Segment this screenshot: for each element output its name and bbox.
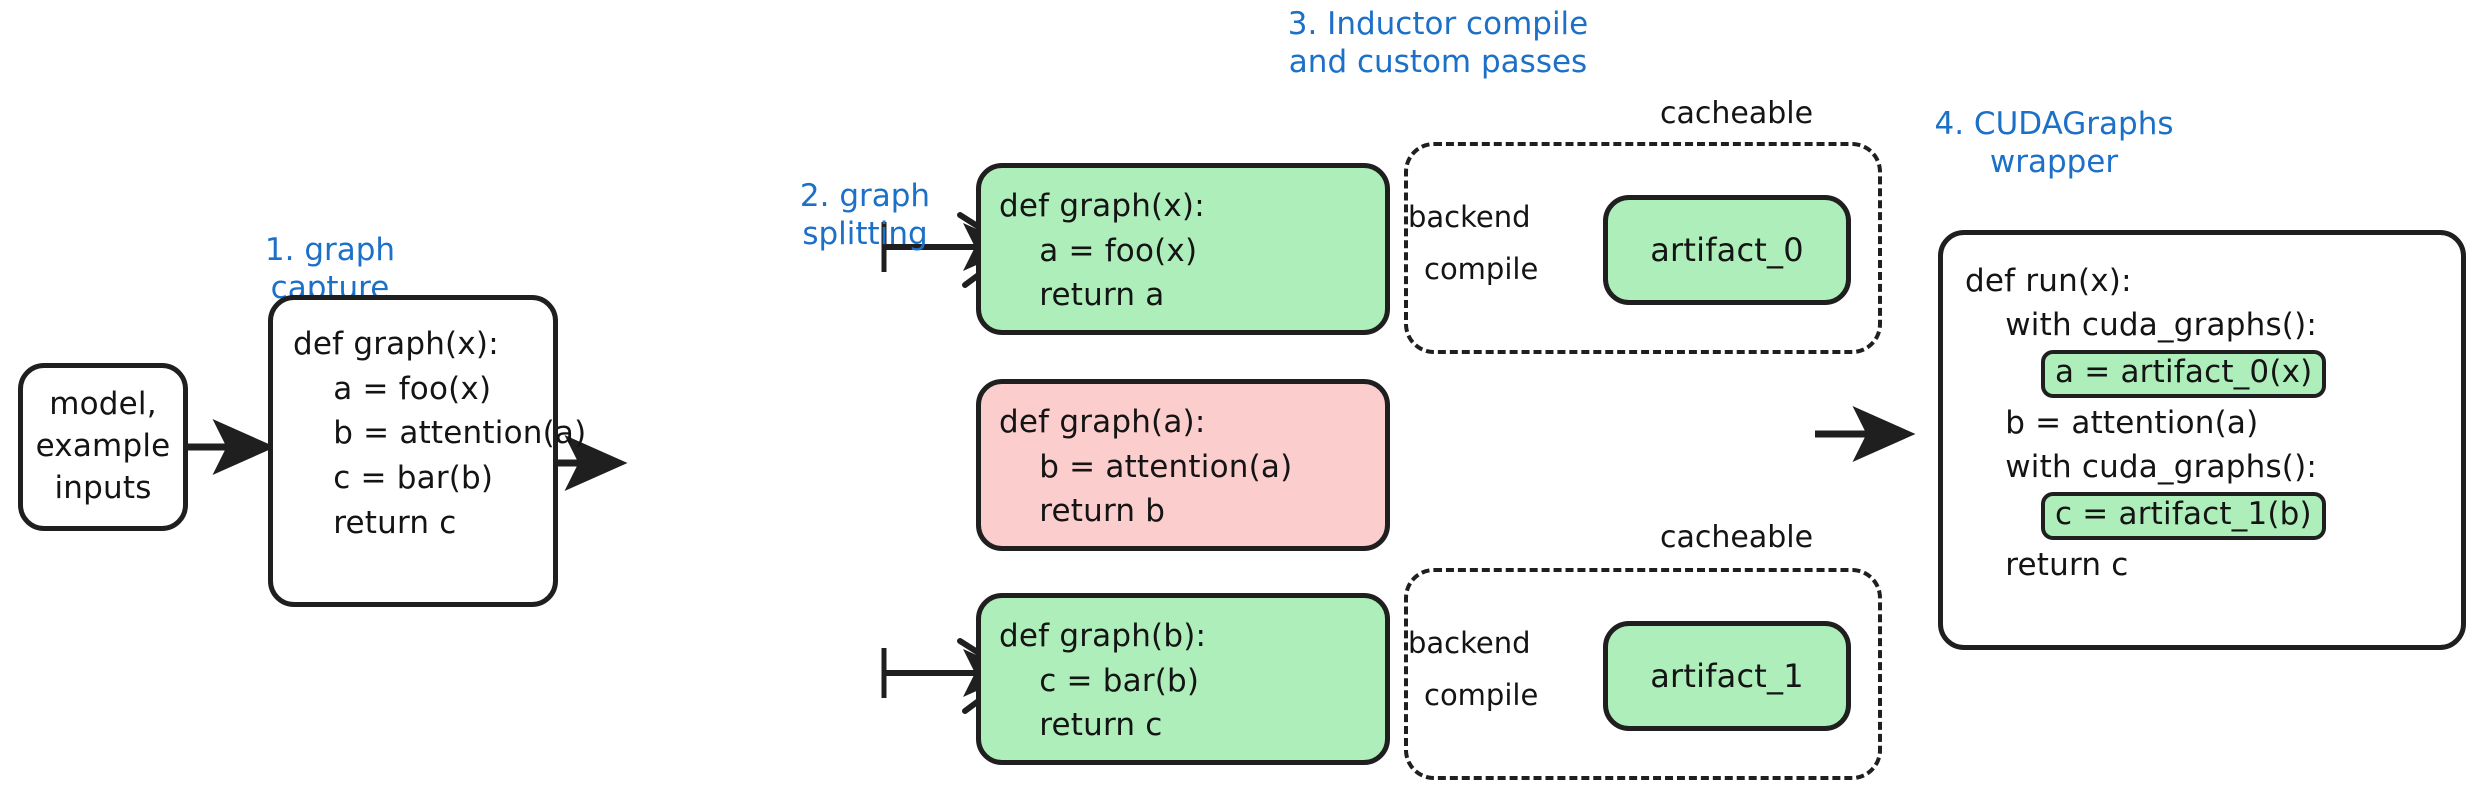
- node-split-graph-2[interactable]: def graph(b): c = bar(b) return c: [976, 593, 1390, 765]
- run-wrapper-line: def run(x):: [1965, 259, 2443, 303]
- run-wrapper-line: b = attention(a): [1965, 401, 2443, 445]
- run-wrapper-line: a = artifact_0(x): [1965, 347, 2443, 401]
- run-wrapper-highlighted-line: c = artifact_1(b): [2041, 492, 2326, 540]
- captured-graph-code: def graph(x): a = foo(x) b = attention(a…: [293, 322, 553, 545]
- node-split-graph-1[interactable]: def graph(a): b = attention(a) return b: [976, 379, 1390, 551]
- edge-label-compile-top: compile: [1424, 252, 1538, 286]
- node-run-wrapper[interactable]: def run(x): with cuda_graphs():a = artif…: [1938, 230, 2466, 650]
- run-wrapper-line: c = artifact_1(b): [1965, 489, 2443, 543]
- step-label-2: 2. graph splitting: [770, 178, 960, 254]
- node-split-graph-0[interactable]: def graph(x): a = foo(x) return a: [976, 163, 1390, 335]
- node-model-example-inputs[interactable]: model, example inputs: [18, 363, 188, 531]
- artifact-1-label: artifact_1: [1650, 657, 1804, 695]
- split-graph-1-code: def graph(a): b = attention(a) return b: [999, 400, 1385, 534]
- node-captured-graph[interactable]: def graph(x): a = foo(x) b = attention(a…: [268, 295, 558, 607]
- edge-label-backend-top: backend: [1408, 200, 1531, 234]
- node-input-text: model, example inputs: [23, 384, 183, 510]
- node-artifact-1[interactable]: artifact_1: [1603, 621, 1851, 731]
- run-wrapper-line: with cuda_graphs():: [1965, 303, 2443, 347]
- edge-label-backend-bottom: backend: [1408, 626, 1531, 660]
- step-label-4: 4. CUDAGraphs wrapper: [1884, 106, 2224, 182]
- artifact-0-label: artifact_0: [1650, 231, 1804, 269]
- run-wrapper-code: def run(x): with cuda_graphs():a = artif…: [1965, 259, 2443, 587]
- cacheable-label-top: cacheable: [1660, 96, 1813, 131]
- split-graph-0-code: def graph(x): a = foo(x) return a: [999, 184, 1385, 318]
- edge-label-compile-bottom: compile: [1424, 678, 1538, 712]
- cacheable-label-bottom: cacheable: [1660, 520, 1813, 555]
- split-graph-2-code: def graph(b): c = bar(b) return c: [999, 614, 1385, 748]
- run-wrapper-line: with cuda_graphs():: [1965, 445, 2443, 489]
- step-label-3: 3. Inductor compile and custom passes: [1228, 6, 1648, 82]
- run-wrapper-line: return c: [1965, 543, 2443, 587]
- diagram-canvas: 1. graph capture 2. graph splitting 3. I…: [0, 0, 2474, 794]
- run-wrapper-highlighted-line: a = artifact_0(x): [2041, 350, 2326, 398]
- node-artifact-0[interactable]: artifact_0: [1603, 195, 1851, 305]
